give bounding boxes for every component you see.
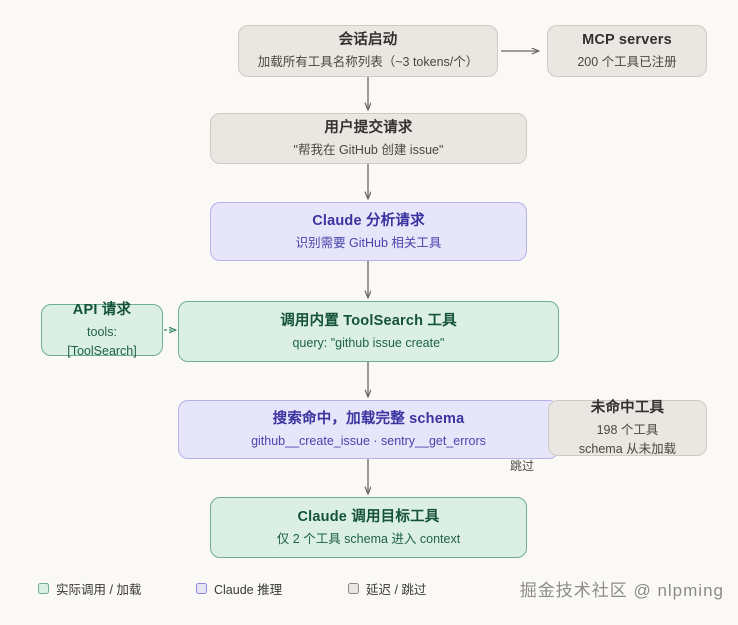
legend-swatch-gray-icon bbox=[348, 583, 359, 594]
legend-swatch-purple-icon bbox=[196, 583, 207, 594]
legend-label: 实际调用 / 加载 bbox=[56, 579, 141, 598]
legend-item-actual-call[interactable]: 实际调用 / 加载 bbox=[38, 579, 141, 598]
node-missed-tools[interactable]: 未命中工具 198 个工具 schema 从未加载 bbox=[548, 400, 707, 456]
node-mcp-servers[interactable]: MCP servers 200 个工具已注册 bbox=[547, 25, 707, 77]
node-subtitle: tools: [ToolSearch] bbox=[52, 323, 152, 359]
legend-label: 延迟 / 跳过 bbox=[366, 579, 426, 598]
node-session-start[interactable]: 会话启动 加载所有工具名称列表（~3 tokens/个） bbox=[238, 25, 498, 77]
node-subtitle: 加载所有工具名称列表（~3 tokens/个） bbox=[258, 53, 479, 71]
node-api-request[interactable]: API 请求 tools: [ToolSearch] bbox=[41, 304, 163, 356]
node-subtitle: 200 个工具已注册 bbox=[577, 53, 676, 71]
node-subtitle: github__create_issue · sentry__get_error… bbox=[251, 432, 486, 450]
node-title: 调用内置 ToolSearch 工具 bbox=[280, 311, 457, 332]
node-subtitle: query: "github issue create" bbox=[292, 334, 444, 352]
legend-item-claude-reasoning[interactable]: Claude 推理 bbox=[196, 579, 282, 598]
node-subtitle: 仅 2 个工具 schema 进入 context bbox=[277, 530, 460, 548]
watermark: 掘金技术社区 @ nlpming bbox=[520, 576, 724, 601]
node-title: 搜索命中，加载完整 schema bbox=[273, 409, 465, 430]
legend-label: Claude 推理 bbox=[214, 579, 282, 598]
node-subtitle: "帮我在 GitHub 创建 issue" bbox=[294, 141, 444, 159]
legend-swatch-green-icon bbox=[38, 583, 49, 594]
diagram-canvas: 会话启动 加载所有工具名称列表（~3 tokens/个） MCP servers… bbox=[0, 0, 738, 625]
node-claude-analyze[interactable]: Claude 分析请求 识别需要 GitHub 相关工具 bbox=[210, 202, 527, 261]
node-user-request[interactable]: 用户提交请求 "帮我在 GitHub 创建 issue" bbox=[210, 113, 527, 164]
node-title: 未命中工具 bbox=[591, 398, 665, 419]
node-title: Claude 分析请求 bbox=[312, 211, 425, 232]
node-title: Claude 调用目标工具 bbox=[298, 507, 440, 528]
node-title: MCP servers bbox=[582, 30, 672, 51]
node-subtitle: 识别需要 GitHub 相关工具 bbox=[296, 234, 442, 252]
node-title: 用户提交请求 bbox=[324, 118, 412, 139]
node-subtitle: 198 个工具 bbox=[597, 421, 659, 439]
node-title: 会话启动 bbox=[339, 30, 398, 51]
edge-label-skip: 跳过 bbox=[510, 457, 534, 474]
node-subtitle-secondary: schema 从未加载 bbox=[579, 440, 676, 458]
node-toolsearch-call[interactable]: 调用内置 ToolSearch 工具 query: "github issue … bbox=[178, 301, 559, 362]
node-title: API 请求 bbox=[73, 300, 131, 321]
node-claude-invoke[interactable]: Claude 调用目标工具 仅 2 个工具 schema 进入 context bbox=[210, 497, 527, 558]
legend-item-deferred-skip[interactable]: 延迟 / 跳过 bbox=[348, 579, 426, 598]
node-search-hit[interactable]: 搜索命中，加载完整 schema github__create_issue · … bbox=[178, 400, 559, 459]
